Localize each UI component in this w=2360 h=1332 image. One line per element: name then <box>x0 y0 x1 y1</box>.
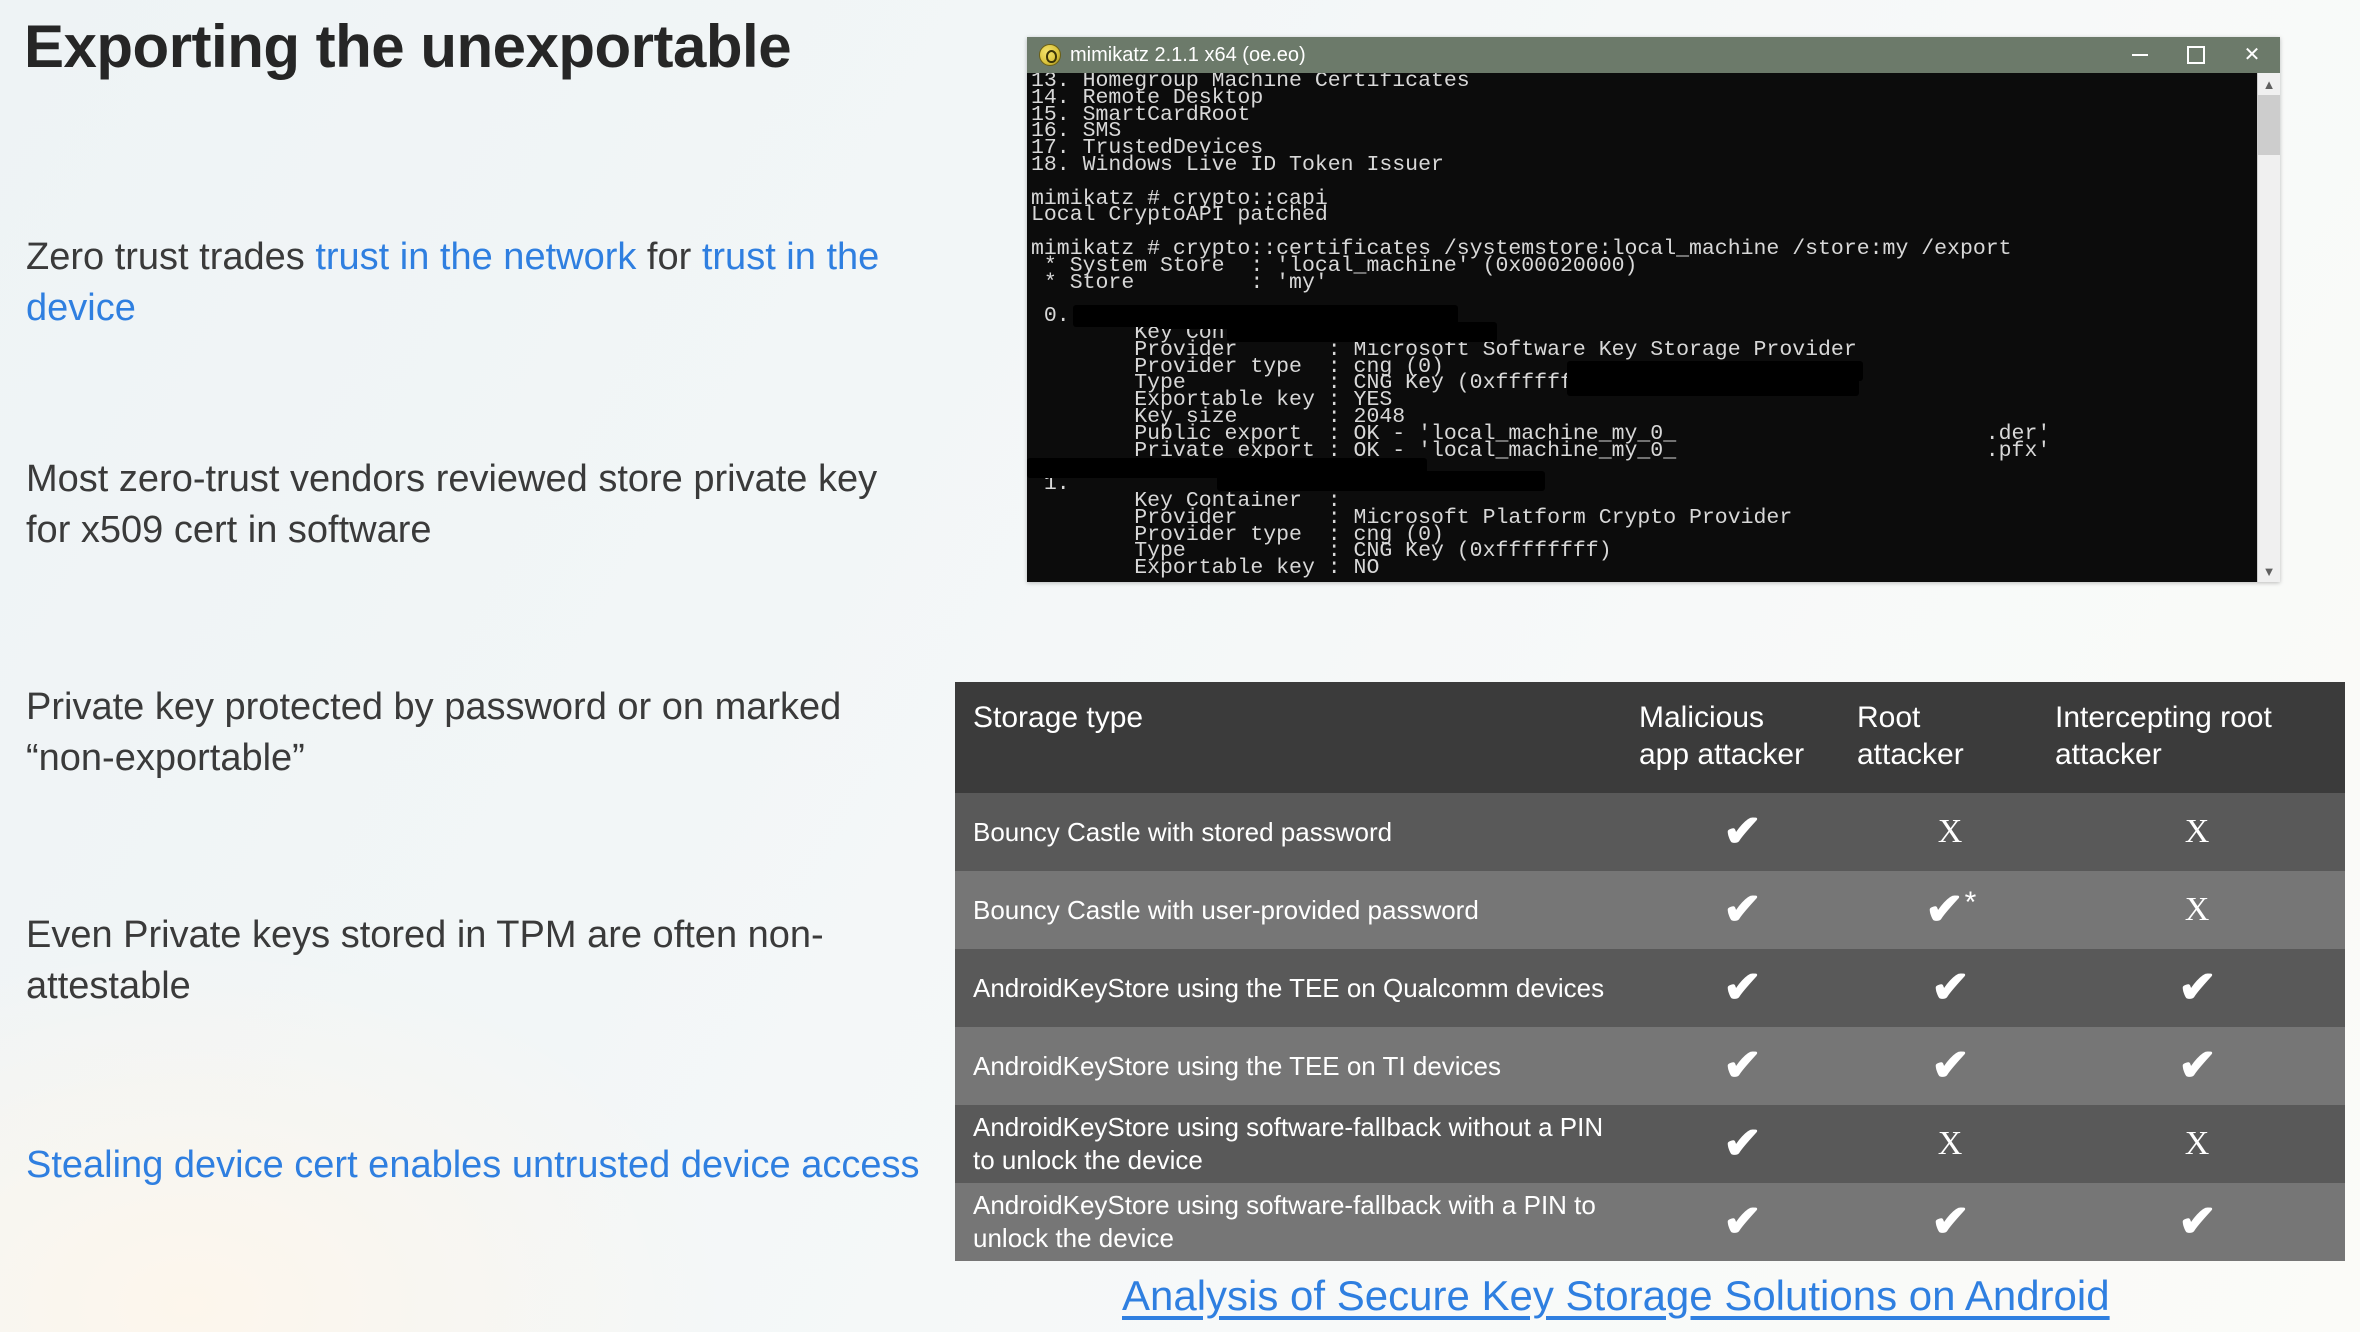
cell-storage-type: Bouncy Castle with stored password <box>955 793 1633 871</box>
cell-storage-type: AndroidKeyStore using the TEE on TI devi… <box>955 1027 1633 1105</box>
terminal-line: 18. Windows Live ID Token Issuer <box>1031 157 2050 174</box>
cell-supported: ✔ <box>1633 793 1851 871</box>
cell-supported: ✔ <box>2049 1183 2345 1261</box>
cell-supported: ✔ <box>1633 1183 1851 1261</box>
cell-not-supported: X <box>2049 871 2345 949</box>
bullet-tpm: Even Private keys stored in TPM are ofte… <box>26 910 926 1012</box>
column-header-line: Malicious <box>1639 700 1845 737</box>
table-row: AndroidKeyStore using software-fallback … <box>955 1183 2345 1261</box>
slide-canvas: Exporting the unexportable Zero trust tr… <box>0 0 2360 1332</box>
cell-not-supported: X <box>2049 1105 2345 1183</box>
table-header-row: Storage type Malicious app attacker Root… <box>955 682 2345 793</box>
column-header-root-attacker: Root attacker <box>1851 682 2049 793</box>
check-icon: ✔ <box>1723 810 1762 854</box>
column-header-line: app attacker <box>1639 737 1845 774</box>
column-header-line: Intercepting root <box>2055 700 2339 737</box>
cell-supported: ✔ <box>1851 1027 2049 1105</box>
window-titlebar: mimikatz 2.1.1 x64 (oe.eo) ✕ <box>1027 37 2280 73</box>
x-icon: X <box>1938 815 1963 849</box>
column-header-malicious-app-attacker: Malicious app attacker <box>1633 682 1851 793</box>
check-icon: ✔ <box>1723 966 1762 1010</box>
source-link[interactable]: Analysis of Secure Key Storage Solutions… <box>1122 1272 2110 1320</box>
check-icon: ✔ <box>2178 1200 2217 1244</box>
x-icon: X <box>2185 1127 2210 1161</box>
mimikatz-icon <box>1039 44 1061 66</box>
storage-comparison-table: Storage type Malicious app attacker Root… <box>955 682 2345 1261</box>
scroll-down-icon[interactable]: ▼ <box>2258 560 2280 582</box>
x-icon: X <box>1938 1127 1963 1161</box>
check-icon: ✔ <box>2178 1044 2217 1088</box>
cell-supported: ✔* <box>1851 871 2049 949</box>
bullet-segment-for: for <box>636 236 701 278</box>
maximize-icon[interactable] <box>2168 37 2224 73</box>
redaction-bar <box>1217 471 1545 491</box>
scroll-up-icon[interactable]: ▲ <box>2258 73 2280 95</box>
cell-storage-type: AndroidKeyStore using software-fallback … <box>955 1105 1633 1183</box>
page-title: Exporting the unexportable <box>24 12 791 81</box>
terminal-line: Local CryptoAPI patched <box>1031 207 2050 224</box>
cell-supported: ✔ <box>1633 871 1851 949</box>
footnote-asterisk: * <box>1965 886 1977 919</box>
terminal-scrollbar[interactable]: ▲ ▼ <box>2257 73 2280 582</box>
cell-supported: ✔ <box>1851 949 2049 1027</box>
x-icon: X <box>2185 893 2210 927</box>
table-header: Storage type Malicious app attacker Root… <box>955 682 2345 793</box>
check-icon: ✔ <box>1723 1044 1762 1088</box>
check-icon: ✔ <box>2178 966 2217 1010</box>
check-icon: ✔ <box>1723 888 1762 932</box>
cell-supported: ✔ <box>1633 1027 1851 1105</box>
bullet-password: Private key protected by password or on … <box>26 682 926 784</box>
bullet-vendors: Most zero-trust vendors reviewed store p… <box>26 454 926 556</box>
check-icon: ✔ <box>1723 1200 1762 1244</box>
mimikatz-window: mimikatz 2.1.1 x64 (oe.eo) ✕ 13. Homegro… <box>1027 37 2280 582</box>
cell-storage-type: AndroidKeyStore using software-fallback … <box>955 1183 1633 1261</box>
bullet-conclusion: Stealing device cert enables untrusted d… <box>26 1140 926 1191</box>
cell-supported: ✔ <box>1851 1183 2049 1261</box>
check-icon: ✔ <box>1931 1044 1970 1088</box>
table-body: Bouncy Castle with stored password✔XXBou… <box>955 793 2345 1261</box>
cell-supported: ✔ <box>1633 1105 1851 1183</box>
cell-storage-type: AndroidKeyStore using the TEE on Qualcom… <box>955 949 1633 1027</box>
table-row: AndroidKeyStore using the TEE on TI devi… <box>955 1027 2345 1105</box>
column-header-intercepting-root-attacker: Intercepting root attacker <box>2049 682 2345 793</box>
terminal-body[interactable]: 13. Homegroup Machine Certificates14. Re… <box>1027 73 2280 582</box>
column-header-storage-type: Storage type <box>955 682 1633 793</box>
bullet-zero-trust: Zero trust trades trust in the network f… <box>26 232 906 334</box>
x-icon: X <box>2185 815 2210 849</box>
cell-supported: ✔ <box>1633 949 1851 1027</box>
terminal-line: 15. SmartCardRoot <box>1031 107 2050 124</box>
cell-supported: ✔ <box>2049 949 2345 1027</box>
window-title: mimikatz 2.1.1 x64 (oe.eo) <box>1070 44 1306 67</box>
column-header-line: Storage type <box>973 700 1633 737</box>
scrollbar-thumb[interactable] <box>2258 95 2280 155</box>
redaction-bar <box>1567 378 1859 396</box>
table-row: AndroidKeyStore using the TEE on Qualcom… <box>955 949 2345 1027</box>
column-header-line: attacker <box>2055 737 2339 774</box>
cell-not-supported: X <box>1851 793 2049 871</box>
table-row: Bouncy Castle with user-provided passwor… <box>955 871 2345 949</box>
check-icon: ✔ <box>1931 1200 1970 1244</box>
column-header-line: attacker <box>1857 737 2043 774</box>
window-controls: ✕ <box>2112 37 2280 73</box>
bullet-segment-plain: Zero trust trades <box>26 236 315 278</box>
cell-not-supported: X <box>1851 1105 2049 1183</box>
redaction-bar <box>1227 322 1497 342</box>
table-row: AndroidKeyStore using software-fallback … <box>955 1105 2345 1183</box>
terminal-line: Private export : OK - 'local_machine_my_… <box>1031 443 2050 460</box>
table-row: Bouncy Castle with stored password✔XX <box>955 793 2345 871</box>
check-icon: ✔ <box>1723 1122 1762 1166</box>
check-icon: ✔ <box>1931 966 1970 1010</box>
cell-storage-type: Bouncy Castle with user-provided passwor… <box>955 871 1633 949</box>
minimize-icon[interactable] <box>2112 37 2168 73</box>
column-header-line: Root <box>1857 700 2043 737</box>
bullet-segment-accent-network: trust in the network <box>315 236 636 278</box>
close-icon[interactable]: ✕ <box>2224 37 2280 73</box>
cell-not-supported: X <box>2049 793 2345 871</box>
cell-supported: ✔ <box>2049 1027 2345 1105</box>
check-icon: ✔ <box>1925 888 1964 932</box>
